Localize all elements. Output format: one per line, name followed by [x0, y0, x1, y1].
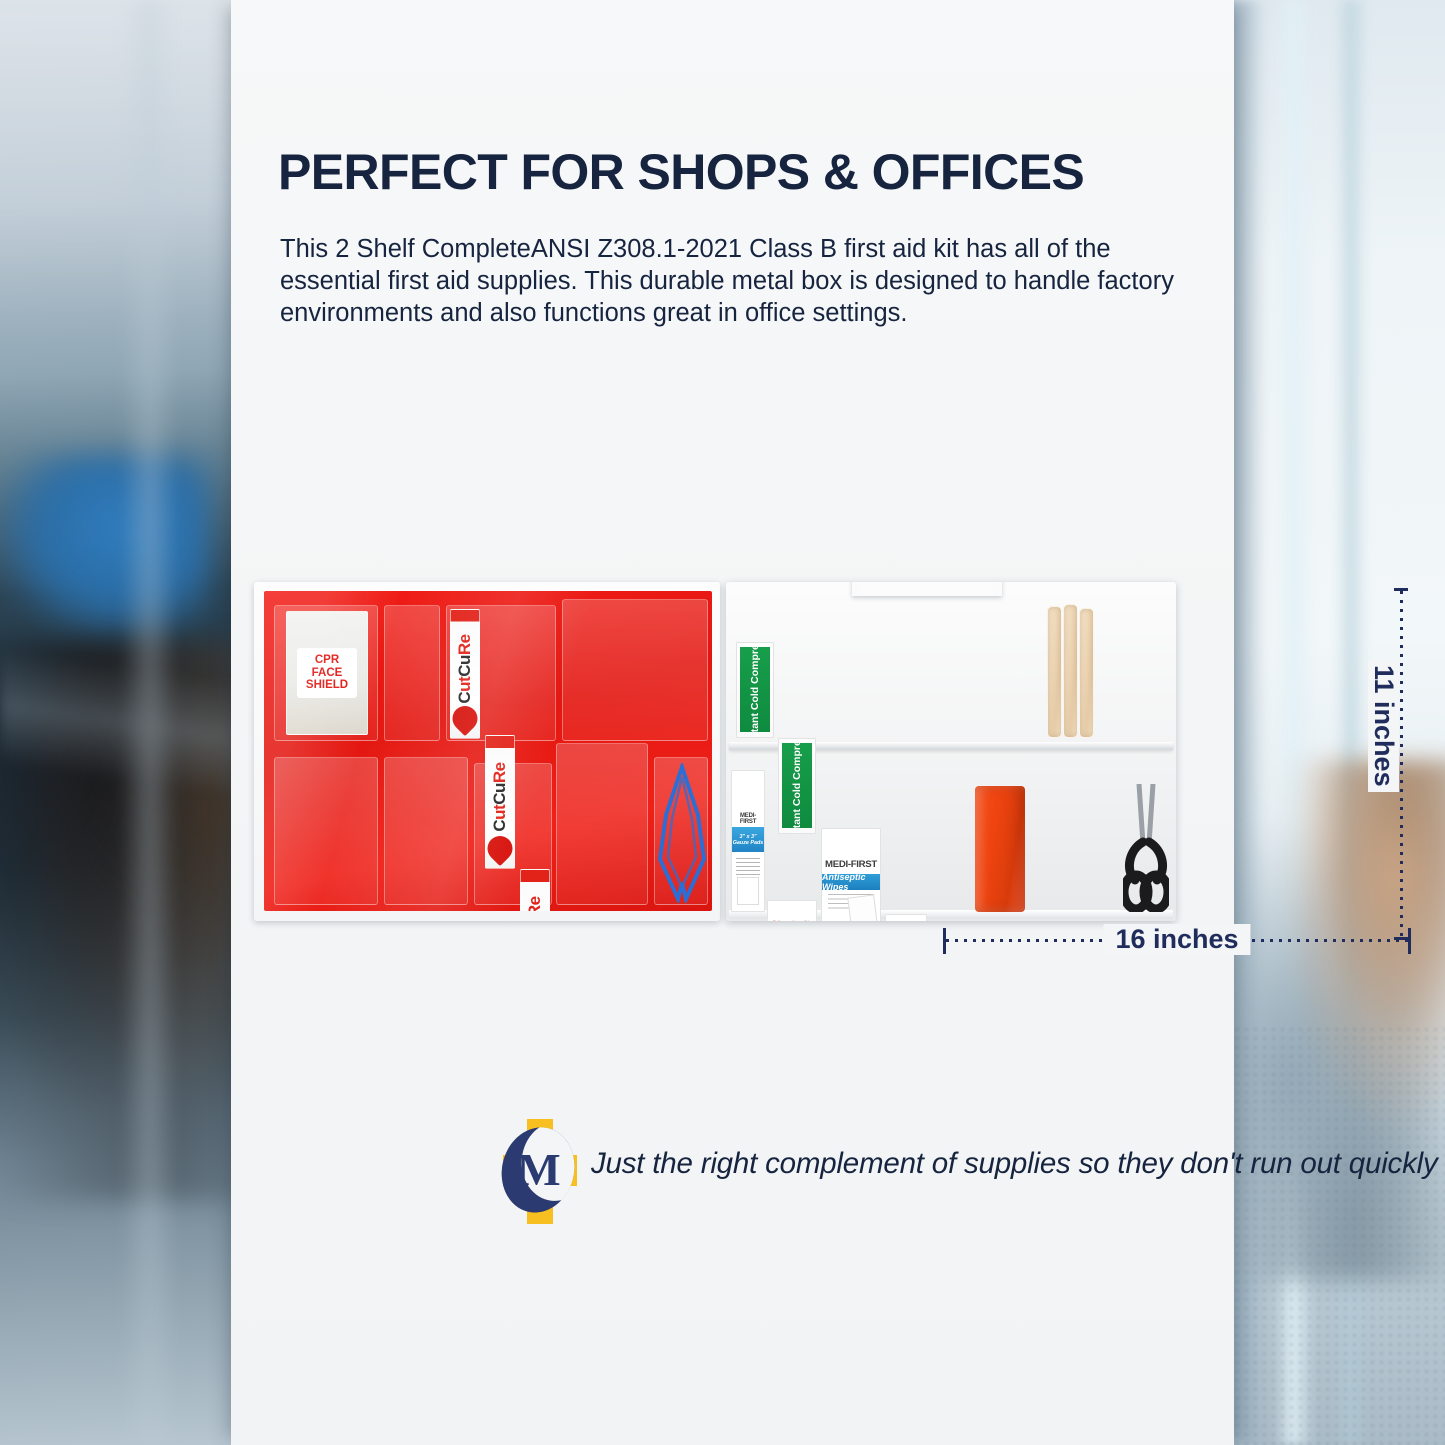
content-panel: PERFECT FOR SHOPS & OFFICES This 2 Shelf…: [231, 0, 1234, 1445]
cpr-line-2: FACE: [302, 667, 351, 680]
logo-letter-m: M: [496, 1147, 582, 1193]
cutcure-name-3: CutCuRe: [525, 896, 545, 911]
width-dimension-label: 16 inches: [1103, 924, 1250, 955]
lid-pocket-2: [384, 605, 440, 741]
elastic-bandage-3: [1079, 608, 1094, 738]
first-aid-kit-photo: CPR FACE SHIELD CutCuRe CutCuRe: [254, 540, 1204, 940]
cutcure-name-1: CutCuRe: [455, 634, 475, 703]
gauze-pads-box: MEDI-FIRST 3" x 3" Gauze Pads: [731, 770, 765, 912]
cpr-line-1: CPR: [302, 654, 351, 667]
elastic-bandage-2: [1063, 604, 1078, 738]
kit-lid: CPR FACE SHIELD CutCuRe CutCuRe: [254, 582, 720, 921]
height-dimension-dots: [1400, 591, 1403, 937]
lid-pocket-8: [556, 743, 648, 905]
product-infographic: PERFECT FOR SHOPS & OFFICES This 2 Shelf…: [0, 0, 1445, 1445]
cutcure-drop-1: [450, 701, 480, 736]
triple-antibiotic-ointment-box: Pull up and tear off to dispense MEDI-FI…: [885, 914, 927, 921]
page-title: PERFECT FOR SHOPS & OFFICES: [278, 146, 1084, 199]
cold-compress-label-1: Instant Cold Compress: [749, 642, 761, 738]
cpr-face-shield-pouch: CPR FACE SHIELD: [286, 611, 368, 735]
cold-compress-green-face-1: Instant Cold Compress: [740, 647, 770, 732]
tweezers-icon: [656, 763, 708, 903]
gauze-pads-body: [736, 858, 760, 875]
gauze-pads-brand: MEDI-FIRST: [732, 813, 764, 825]
cutcure-stick-1: CutCuRe: [450, 609, 480, 739]
footer-tagline: Just the right complement of supplies so…: [591, 1147, 1445, 1181]
lid-red-tray: CPR FACE SHIELD CutCuRe CutCuRe: [264, 591, 712, 911]
footer: M Just the right complement of supplies …: [496, 1119, 1445, 1224]
orange-biohazard-container: [975, 786, 1025, 912]
cutcure-stick-3: CutCuRe: [520, 869, 550, 911]
height-dimension-label: 11 inches: [1368, 660, 1399, 792]
gauze-pads-name: 3" x 3" Gauze Pads: [732, 827, 764, 852]
shelf-bottom: MEDI-FIRST 3" x 3" Gauze Pads Pull up an…: [733, 750, 1169, 914]
lid-pocket-6: [384, 757, 468, 905]
lid-pocket-4: [562, 599, 708, 741]
cutcure-stick-2: CutCuRe: [485, 735, 515, 869]
cpr-line-3: SHIELD: [302, 679, 351, 692]
kit-cabinet: Instant Cold Compress Instant Cold Compr…: [726, 582, 1176, 921]
shelf-top: Instant Cold Compress Instant Cold Compr…: [733, 592, 1169, 740]
instant-cold-compress-1: Instant Cold Compress: [736, 642, 774, 738]
cutcure-drop-2: [485, 831, 515, 866]
background-right-chair-mesh: [1215, 1025, 1445, 1445]
strips-tear: Pull up and tear off to dispense: [768, 919, 816, 921]
width-dimension-line: 16 inches: [943, 922, 1411, 956]
page-description: This 2 Shelf CompleteANSI Z308.1-2021 Cl…: [280, 233, 1190, 329]
background-left-window-frame: [0, 0, 240, 1445]
cpr-face-shield-label: CPR FACE SHIELD: [297, 648, 356, 699]
scissors-icon: [1123, 784, 1169, 917]
elastic-bandage-1: [1047, 606, 1062, 738]
cutcure-name-2: CutCuRe: [490, 762, 510, 831]
mfasco-logo: M: [496, 1119, 582, 1224]
gauze-pads-swatch: [737, 877, 759, 905]
strips-bandage-box: Pull up and tear off to dispense MEDI-FI…: [767, 900, 817, 921]
lid-pocket-5: [274, 757, 378, 905]
width-dimension-cap-right: [1408, 928, 1411, 954]
